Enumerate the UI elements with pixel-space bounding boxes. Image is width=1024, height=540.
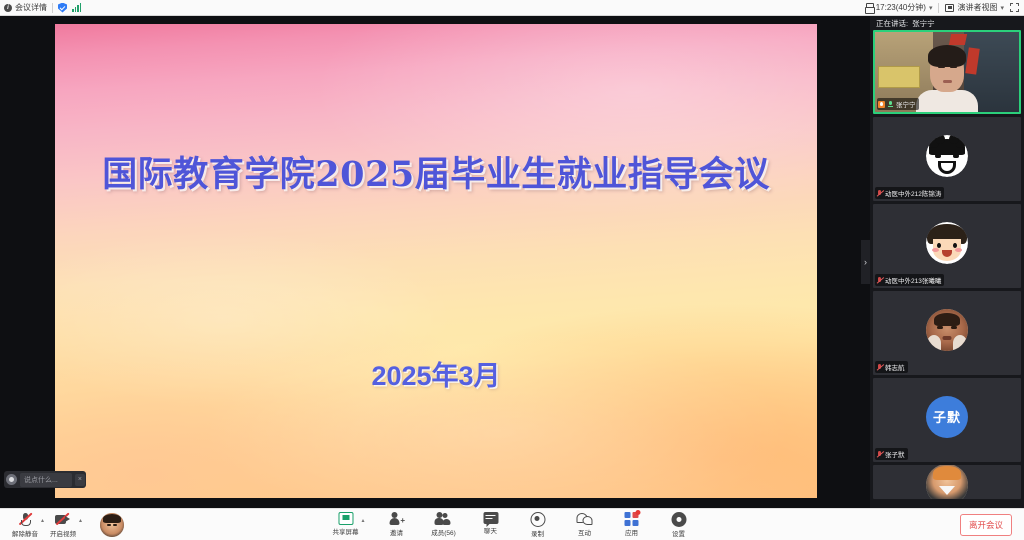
meeting-info-label: 会议详情 [15, 2, 47, 13]
chevron-down-icon[interactable]: ▾ [929, 4, 933, 12]
top-bar: 会议详情 17:23(40分钟) ▾ 演讲者视图 ▾ [0, 0, 1024, 16]
participant-tile[interactable]: 动医中外212陈锦涛 [873, 117, 1021, 201]
avatar [926, 135, 968, 177]
camera-control-group[interactable]: 开启视频 ▴ [48, 512, 82, 538]
participant-name-badge: 动医中外213张曦曦 [875, 274, 944, 286]
mic-muted-icon [876, 277, 883, 284]
info-icon [4, 4, 12, 12]
participant-tile[interactable] [873, 465, 1021, 499]
start-video-button[interactable]: 开启视频 [48, 512, 78, 538]
meeting-info-button[interactable]: 会议详情 [4, 2, 47, 13]
invite-button[interactable]: + 邀请 [382, 512, 412, 537]
invite-label: 邀请 [390, 527, 403, 537]
mic-muted-icon [876, 364, 883, 371]
interact-icon [577, 512, 593, 526]
active-speaker-banner: 正在讲话: 张宁宁 [870, 16, 1024, 30]
chat-button[interactable]: 聊天 [476, 512, 506, 535]
share-screen-label: 共享屏幕 [332, 526, 358, 536]
share-screen-icon [338, 512, 353, 525]
unmute-button[interactable]: 解除静音 [10, 512, 40, 538]
invite-icon: + [389, 512, 404, 526]
signal-bars-icon[interactable] [72, 3, 81, 12]
speaking-prefix: 正在讲话: [876, 18, 908, 29]
view-mode-selector[interactable]: 演讲者视图 ▾ [945, 2, 1004, 13]
apps-button[interactable]: 应用 [617, 512, 647, 537]
avatar [926, 309, 968, 351]
settings-label: 设置 [672, 528, 685, 538]
shield-icon[interactable] [58, 3, 67, 13]
gear-icon [671, 512, 686, 527]
members-button[interactable]: 成员(56) [429, 512, 459, 537]
camera-muted-icon [55, 512, 71, 527]
interact-button[interactable]: 互动 [570, 512, 600, 537]
participant-name: 张子默 [885, 449, 905, 459]
participant-tile[interactable]: 韩志航 [873, 291, 1021, 375]
chat-input[interactable]: 说点什么... [20, 473, 72, 487]
mic-on-icon [887, 101, 894, 108]
members-icon [435, 512, 452, 526]
participant-name: 动医中外212陈锦涛 [885, 188, 941, 198]
unmute-label: 解除静音 [12, 528, 38, 538]
timer-label: 17:23(40分钟) [876, 2, 926, 13]
participant-name-badge: 张子默 [875, 448, 908, 460]
presentation-slide: 国际教育学院2025届毕业生就业指导会议 2025年3月 [55, 24, 817, 498]
mic-muted-icon [18, 512, 32, 527]
mic-control-group[interactable]: 解除静音 ▴ [10, 512, 44, 538]
fullscreen-icon[interactable] [1010, 3, 1019, 12]
chevron-down-icon[interactable]: ▾ [1000, 4, 1004, 12]
view-mode-label: 演讲者视图 [957, 2, 997, 13]
floating-chat-bar[interactable]: 说点什么... × [4, 471, 86, 488]
record-icon [530, 512, 545, 527]
meeting-window: 会议详情 17:23(40分钟) ▾ 演讲者视图 ▾ 国际教育学院2025届毕业… [0, 0, 1024, 540]
members-label: 成员(56) [431, 527, 456, 537]
layout-icon [945, 4, 954, 12]
apps-label: 应用 [625, 527, 638, 537]
participant-tile[interactable]: 子默 张子默 [873, 378, 1021, 462]
record-label: 录制 [531, 528, 544, 538]
divider [52, 3, 53, 13]
divider [938, 3, 939, 13]
participant-name: 动医中外213张曦曦 [885, 275, 941, 285]
avatar: 子默 [926, 396, 968, 438]
participant-name-badge: 韩志航 [875, 361, 908, 373]
participant-panel: 正在讲话: 张宁宁 张宁宁 [870, 16, 1024, 508]
share-screen-button[interactable]: 共享屏幕 [330, 512, 360, 536]
apps-icon [625, 512, 639, 526]
bottom-toolbar: 解除静音 ▴ 开启视频 ▴ 共享屏 [0, 508, 1024, 540]
meeting-timer[interactable]: 17:23(40分钟) ▾ [865, 2, 933, 13]
participant-name-badge: 动医中外212陈锦涛 [875, 187, 944, 199]
start-video-label: 开启视频 [50, 528, 76, 538]
chat-icon [483, 512, 498, 524]
participant-tile[interactable]: 张宁宁 [873, 30, 1021, 114]
chevron-up-icon[interactable]: ▴ [79, 512, 82, 524]
mic-muted-icon [876, 190, 883, 197]
leave-meeting-button[interactable]: 离开会议 [960, 514, 1012, 536]
close-icon[interactable]: × [75, 474, 85, 486]
avatar [926, 222, 968, 264]
chevron-up-icon[interactable]: ▴ [361, 512, 364, 524]
participant-name: 韩志航 [885, 362, 905, 372]
slide-title: 国际教育学院2025届毕业生就业指导会议 [55, 146, 817, 197]
recording-icon [865, 3, 873, 12]
participant-name-badge: 张宁宁 [877, 98, 919, 110]
slide-date: 2025年3月 [55, 354, 817, 393]
record-button[interactable]: 录制 [523, 512, 553, 538]
speaking-name: 张宁宁 [912, 18, 935, 29]
interact-label: 互动 [578, 527, 591, 537]
collapse-panel-button[interactable]: › [861, 240, 870, 284]
avatar [926, 465, 968, 499]
chevron-up-icon[interactable]: ▴ [41, 512, 44, 524]
shared-screen-stage: 国际教育学院2025届毕业生就业指导会议 2025年3月 说点什么... × › [0, 16, 870, 508]
participant-name: 张宁宁 [896, 99, 916, 109]
share-screen-group[interactable]: 共享屏幕 ▴ [330, 512, 364, 536]
user-avatar-icon [6, 474, 17, 485]
self-avatar[interactable] [100, 513, 124, 537]
participant-tile[interactable]: 动医中外213张曦曦 [873, 204, 1021, 288]
host-icon [878, 101, 885, 108]
settings-button[interactable]: 设置 [664, 512, 694, 538]
mic-muted-icon [876, 451, 883, 458]
